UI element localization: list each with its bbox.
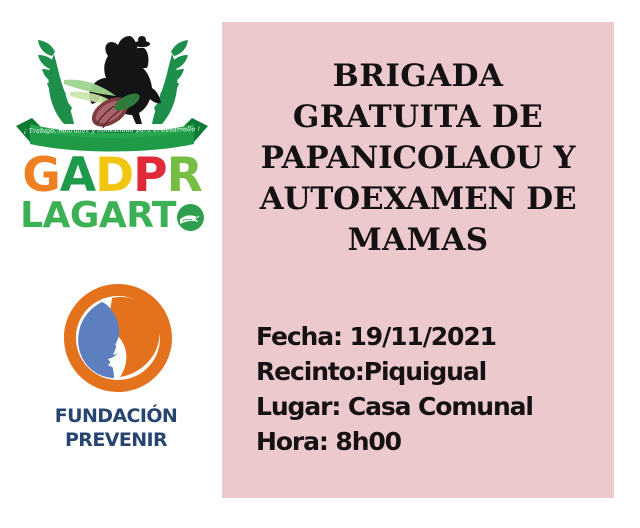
gadpr-acronym: GADPR <box>14 152 210 199</box>
poster-canvas: ¡ Trabajo, honradez y honestidad para el… <box>0 0 640 528</box>
parish-name-text: LAGART <box>20 195 176 236</box>
headline-line-5: MAMAS <box>226 220 610 261</box>
flyer-panel: BRIGADA GRATUITA DE PAPANICOLAOU Y AUTOE… <box>222 22 614 498</box>
prevenir-name-line1: FUNDACIÓN <box>55 405 177 427</box>
prevenir-name: FUNDACIÓN PREVENIR <box>48 404 184 452</box>
headline-line-1: BRIGADA <box>226 56 610 97</box>
fundacion-prevenir-logo: FUNDACIÓN PREVENIR <box>48 282 184 482</box>
headline-line-2: GRATUITA DE <box>226 97 610 138</box>
flyer-details: Fecha: 19/11/2021 Recinto:Piquigual Luga… <box>256 319 612 459</box>
face-and-dove-circle-icon <box>62 282 174 394</box>
headline-line-3: PAPANICOLAOU Y <box>226 138 610 179</box>
parish-name: LAGART <box>14 198 210 234</box>
crocodile-badge-icon <box>177 202 204 229</box>
detail-hora: Hora: 8h00 <box>256 424 612 459</box>
detail-fecha: Fecha: 19/11/2021 <box>256 319 612 354</box>
gadpr-lagarto-logo: ¡ Trabajo, honradez y honestidad para el… <box>14 20 210 242</box>
headline-line-4: AUTOEXAMEN DE <box>226 179 610 220</box>
logo-column: ¡ Trabajo, honradez y honestidad para el… <box>0 0 220 528</box>
prevenir-name-line2: PREVENIR <box>65 429 167 451</box>
detail-recinto: Recinto:Piquigual <box>256 354 612 389</box>
flyer-headline: BRIGADA GRATUITA DE PAPANICOLAOU Y AUTOE… <box>226 56 610 261</box>
detail-lugar: Lugar: Casa Comunal <box>256 389 612 424</box>
